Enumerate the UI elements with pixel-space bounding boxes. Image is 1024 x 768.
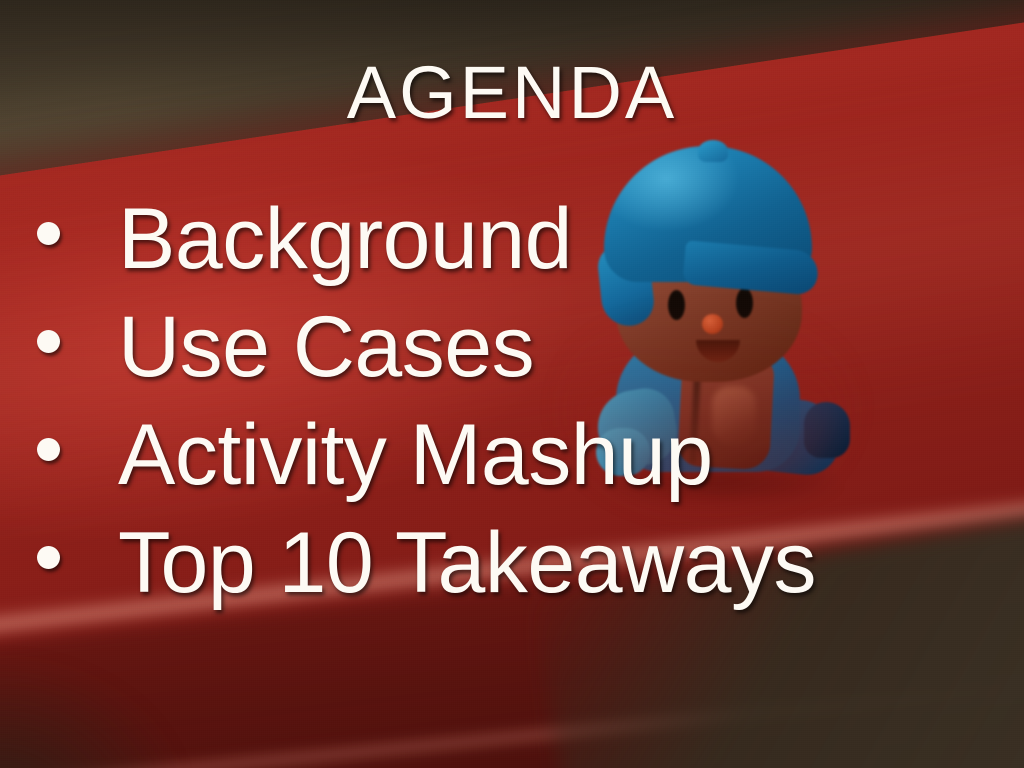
agenda-item-activity-mashup: Activity Mashup bbox=[28, 412, 928, 520]
agenda-item-label: Use Cases bbox=[118, 304, 534, 390]
agenda-list: Background Use Cases Activity Mashup Top… bbox=[28, 196, 928, 628]
bullet-icon bbox=[37, 330, 60, 353]
agenda-item-label: Top 10 Takeaways bbox=[118, 520, 816, 606]
slide-title: AGENDA bbox=[0, 56, 1024, 130]
presentation-slide: AGENDA Background Use Cases Activity Mas… bbox=[0, 0, 1024, 768]
bottom-left-dark-corner bbox=[0, 660, 184, 768]
agenda-item-background: Background bbox=[28, 196, 928, 304]
agenda-item-use-cases: Use Cases bbox=[28, 304, 928, 412]
toy-cap-knob bbox=[698, 140, 728, 162]
agenda-item-top-10-takeaways: Top 10 Takeaways bbox=[28, 520, 928, 628]
agenda-item-label: Background bbox=[118, 196, 572, 282]
bullet-icon bbox=[37, 438, 60, 461]
agenda-item-label: Activity Mashup bbox=[118, 412, 713, 498]
bullet-icon bbox=[37, 222, 60, 245]
bullet-icon bbox=[37, 546, 60, 569]
